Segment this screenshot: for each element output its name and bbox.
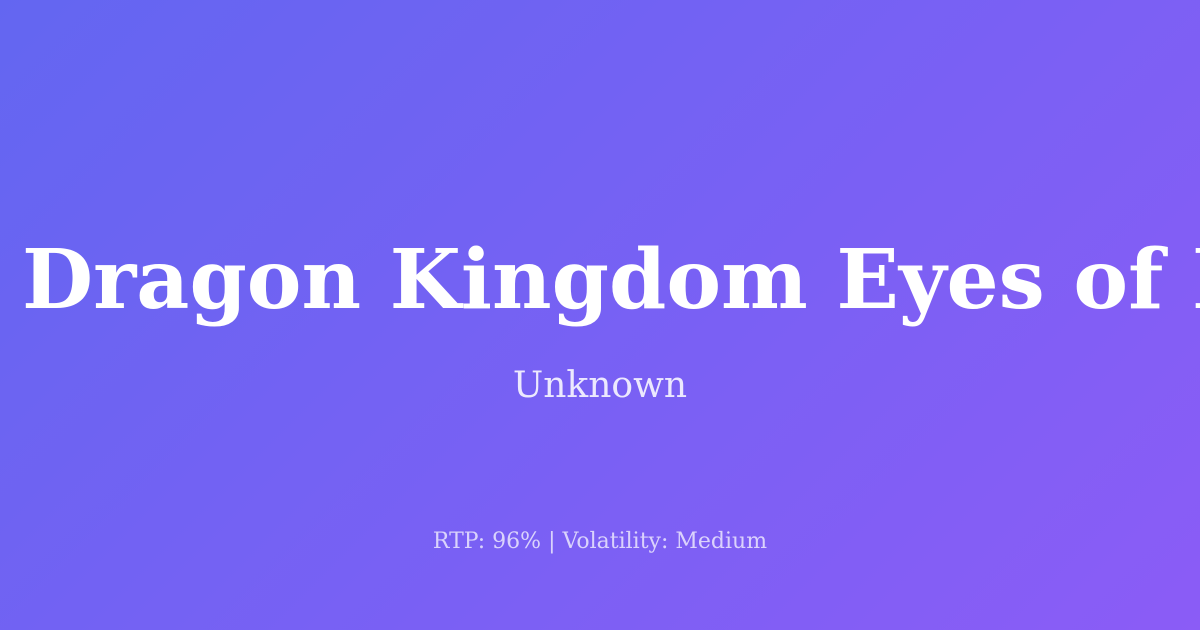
page-title: Dragon Kingdom Eyes of Fire: [22, 232, 1200, 328]
title-row: Dragon Kingdom Eyes of Fire: [0, 232, 1200, 328]
og-share-card: Dragon Kingdom Eyes of Fire Unknown RTP:…: [0, 0, 1200, 630]
game-stats-line: RTP: 96% | Volatility: Medium: [0, 527, 1200, 557]
subtitle-provider: Unknown: [0, 362, 1200, 410]
